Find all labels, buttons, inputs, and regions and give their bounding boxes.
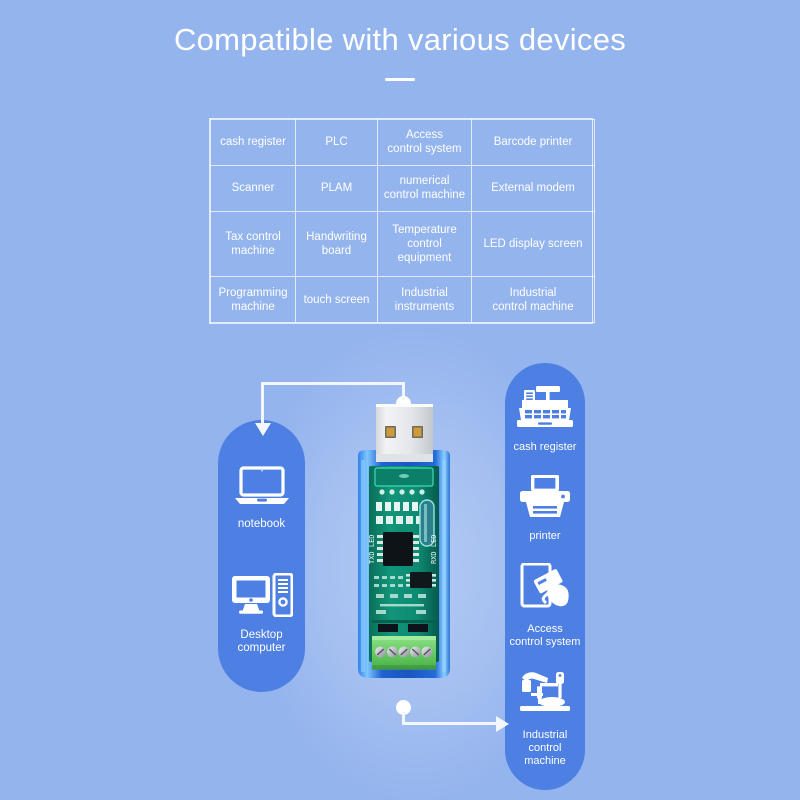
computer-device-group: notebook Desktopcomputer [218, 420, 305, 692]
infographic-page: Compatible with various devices cash reg… [0, 0, 800, 800]
table-cell: Handwritingboard [296, 211, 378, 276]
device-label: cash register [512, 441, 579, 454]
usb-to-rs485-converter: TXD LED RXD LED [352, 404, 456, 714]
connector-arrow-down [255, 423, 271, 436]
table-cell: LED display screen [472, 211, 595, 276]
svg-text:RXD LED: RXD LED [430, 534, 438, 564]
device-access-control-system: Accesscontrol system [505, 563, 585, 649]
table-cell: numericalcontrol machine [378, 165, 472, 211]
table-cell: Industrialinstruments [378, 277, 472, 323]
printer-icon [518, 474, 572, 523]
table-cell: cash register [211, 120, 296, 166]
connector-arrow-right [496, 716, 509, 732]
connector-segment [261, 382, 264, 424]
table-cell: Temperaturecontrolequipment [378, 211, 472, 276]
device-desktop-computer: Desktopcomputer [218, 573, 305, 656]
table-cell: Tax controlmachine [211, 211, 296, 276]
title-divider [385, 78, 415, 81]
connector-segment [402, 722, 498, 725]
page-title: Compatible with various devices [0, 22, 800, 58]
table-row: Tax controlmachineHandwritingboardTemper… [211, 211, 595, 276]
table-cell: touch screen [296, 277, 378, 323]
table-cell: PLAM [296, 165, 378, 211]
cash-register-icon [516, 385, 574, 434]
device-printer: printer [505, 474, 585, 543]
desktop-computer-icon [231, 573, 293, 622]
device-label: Accesscontrol system [508, 623, 583, 649]
device-label: notebook [236, 518, 287, 532]
table-cell: Programmingmachine [211, 277, 296, 323]
device-cash-register: cash register [505, 385, 585, 454]
device-label: Industrialcontrolmachine [521, 729, 570, 768]
device-label: printer [527, 530, 562, 543]
table-row: Programmingmachinetouch screenIndustrial… [211, 277, 595, 323]
table-cell: PLC [296, 120, 378, 166]
device-label: Desktopcomputer [236, 629, 288, 656]
table-cell: External modem [472, 165, 595, 211]
peripheral-device-group: cash register printer [505, 363, 585, 790]
table-cell: Accesscontrol system [378, 120, 472, 166]
connector-segment [261, 382, 405, 385]
table-cell: Industrialcontrol machine [472, 277, 595, 323]
access-card-reader-icon [518, 563, 572, 616]
table-row: cash registerPLCAccesscontrol systemBarc… [211, 120, 595, 166]
table-cell: Barcode printer [472, 120, 595, 166]
device-industrial-control-machine: Industrialcontrolmachine [505, 669, 585, 768]
table-cell: Scanner [211, 165, 296, 211]
device-notebook: notebook [218, 466, 305, 532]
svg-text:TXD LED: TXD LED [368, 534, 376, 564]
table-row: ScannerPLAMnumericalcontrol machineExter… [211, 165, 595, 211]
compatibility-table: cash registerPLCAccesscontrol systemBarc… [209, 118, 593, 324]
industrial-machine-icon [516, 669, 574, 722]
laptop-icon [233, 466, 291, 511]
